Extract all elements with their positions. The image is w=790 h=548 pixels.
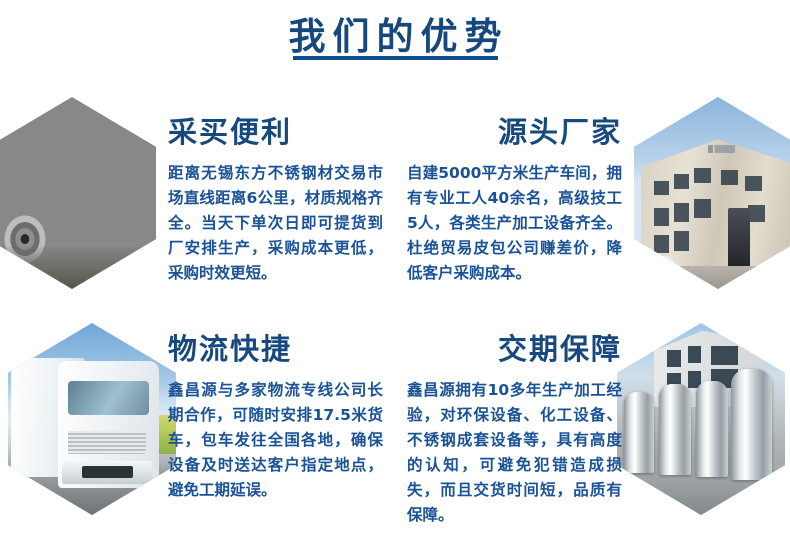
truck-windshield (68, 381, 149, 416)
factory-window (674, 231, 689, 250)
steel-tank (624, 392, 654, 473)
feature-body: 鑫昌源与多家物流专线公司长期合作，可随时安排17.5米货车，包车发往全国各地，确… (168, 378, 383, 503)
factory-window (721, 170, 738, 185)
factory-sign (708, 145, 735, 153)
factory-window (694, 168, 711, 183)
feature-text-delivery-guarantee: 交期保障 鑫昌源拥有10多年生产加工经验，对环保设备、化工设备、不锈钢成套设备等… (407, 332, 622, 528)
building-window (667, 350, 680, 367)
feature-block-procurement-convenience: 采买便利 距离无锡东方不锈钢材交易市场直线距离6公里，材质规格齐全。当天下单次日… (0, 95, 395, 320)
feature-body: 距离无锡东方不锈钢材交易市场直线距离6公里，材质规格齐全。当天下单次日即可提货到… (168, 161, 383, 286)
feature-heading: 源头厂家 (407, 115, 622, 149)
feature-heading: 物流快捷 (168, 332, 383, 366)
feature-text-source-manufacturer: 源头厂家 自建5000平方米生产车间，拥有专业工人40余名，高级技工5人，各类生… (407, 115, 622, 286)
title-underline-rule (293, 56, 498, 60)
delivery-truck-image-art (8, 323, 176, 515)
feature-block-delivery-guarantee: 交期保障 鑫昌源拥有10多年生产加工经验，对环保设备、化工设备、不锈钢成套设备等… (395, 315, 790, 540)
factory-window (694, 199, 711, 218)
building-window (688, 346, 701, 363)
steel-tank (731, 369, 771, 480)
factory-ground (634, 266, 790, 289)
feature-block-source-manufacturer: 源头厂家 自建5000平方米生产车间，拥有专业工人40余名，高级技工5人，各类生… (395, 95, 790, 320)
steel-coils-photo (0, 97, 156, 289)
stainless-steel-tanks-photo (617, 323, 785, 515)
factory-window (674, 174, 689, 189)
advantages-page: 我们的优势 采买便利 距离无锡东方不锈钢材交易市场直线距离6公里，材质规格齐全。… (0, 0, 790, 548)
factory-window (654, 181, 669, 194)
factory-window (674, 203, 689, 222)
feature-heading: 采买便利 (168, 115, 383, 149)
feature-text-fast-logistics: 物流快捷 鑫昌源与多家物流专线公司长期合作，可随时安排17.5米货车，包车发往全… (168, 332, 383, 503)
factory-building-photo (634, 97, 790, 289)
feature-body: 自建5000平方米生产车间，拥有专业工人40余名，高级技工5人，各类生产加工设备… (407, 161, 622, 286)
steel-tank (696, 381, 728, 477)
factory-window (654, 208, 669, 225)
factory-window (654, 235, 669, 252)
feature-body: 鑫昌源拥有10多年生产加工经验，对环保设备、化工设备、不锈钢成套设备等，具有高度… (407, 378, 622, 528)
factory-building-image-art (634, 97, 790, 289)
factory-window (748, 205, 765, 222)
feature-block-fast-logistics: 物流快捷 鑫昌源与多家物流专线公司长期合作，可随时安排17.5米货车，包车发往全… (0, 315, 395, 540)
building-window (711, 346, 738, 365)
steel-coils-image-art (0, 97, 156, 289)
delivery-truck-photo (8, 323, 176, 515)
feature-text-procurement-convenience: 采买便利 距离无锡东方不锈钢材交易市场直线距离6公里，材质规格齐全。当天下单次日… (168, 115, 383, 286)
steel-tank (659, 384, 691, 474)
stainless-steel-tanks-image-art (617, 323, 785, 515)
page-title-wrap: 我们的优势 (0, 14, 790, 60)
factory-window (745, 176, 762, 191)
truck-bumper (62, 461, 153, 484)
factory-entrance (728, 208, 750, 266)
feature-heading: 交期保障 (407, 332, 622, 366)
truck-grille (68, 431, 145, 454)
page-title: 我们的优势 (0, 14, 790, 60)
parked-car (647, 256, 674, 271)
